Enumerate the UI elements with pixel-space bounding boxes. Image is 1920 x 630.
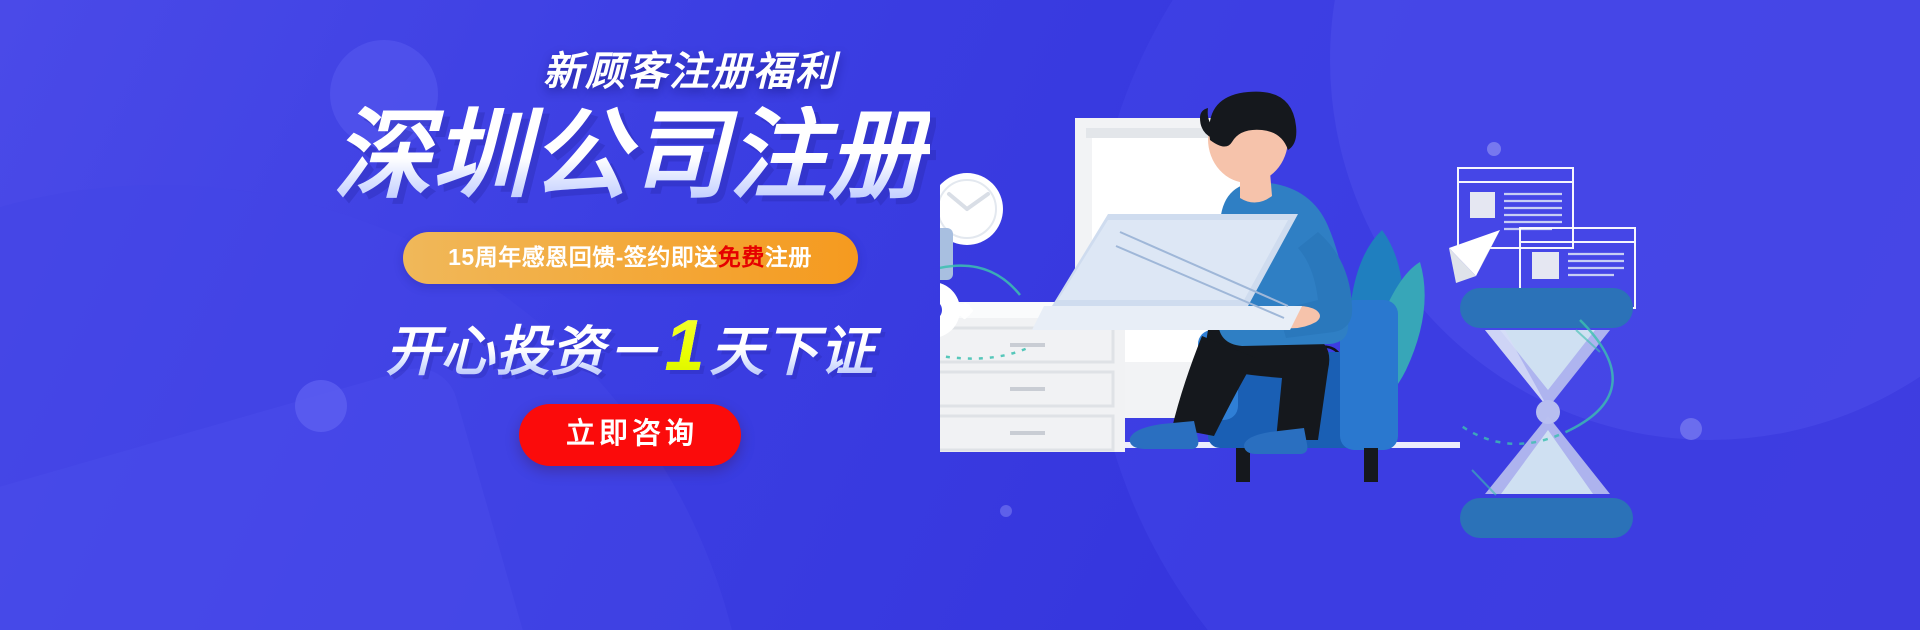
- banner-copy: 新顾客注册福利 深圳公司注册 15周年感恩回馈-签约即送免费注册 开心投资－1天…: [330, 52, 930, 466]
- banner-headline: 深圳公司注册: [330, 106, 930, 206]
- promo-banner: 新顾客注册福利 深圳公司注册 15周年感恩回馈-签约即送免费注册 开心投资－1天…: [0, 0, 1920, 630]
- promo-pill-prefix: 15周年感恩回馈-签约即送: [448, 244, 718, 270]
- banner-eyebrow: 新顾客注册福利: [450, 52, 930, 92]
- promo-pill-text: 15周年感恩回馈-签约即送免费注册: [448, 246, 812, 269]
- banner-subline: 开心投资－1天下证: [330, 310, 930, 382]
- subline-number: 1: [660, 306, 709, 386]
- promo-pill-highlight: 免费: [718, 244, 765, 270]
- hourglass-icon: [1460, 288, 1633, 538]
- laptop: [1032, 214, 1302, 330]
- consult-now-button[interactable]: 立即咨询: [519, 404, 741, 466]
- promo-pill-suffix: 注册: [765, 244, 812, 270]
- hero-illustration: [940, 0, 1920, 630]
- document-card: [1458, 168, 1573, 248]
- promo-pill: 15周年感恩回馈-签约即送免费注册: [403, 232, 858, 284]
- subline-prefix: 开心投资－: [385, 322, 660, 382]
- consult-now-button-label: 立即咨询: [562, 420, 698, 449]
- subline-suffix: 天下证: [710, 322, 875, 382]
- paper-plane-icon: [1449, 230, 1500, 283]
